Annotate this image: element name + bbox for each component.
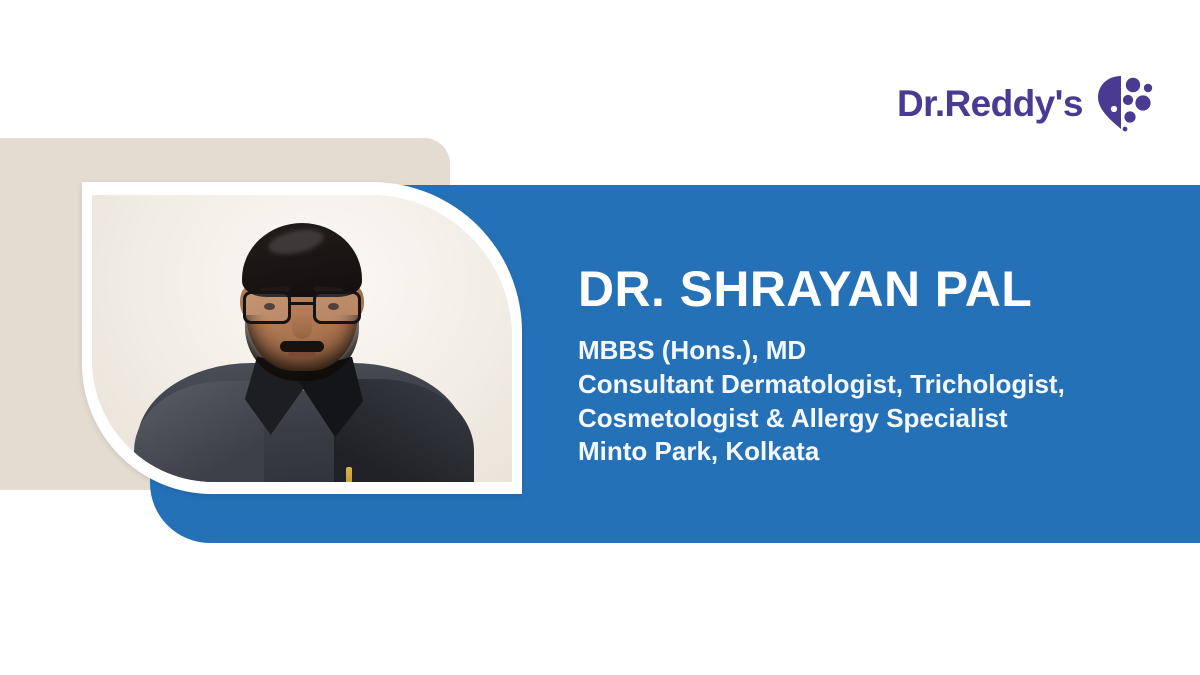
credential-line-1: MBBS (Hons.), MD [578,334,1178,368]
credential-line-2: Consultant Dermatologist, Trichologist, [578,368,1178,402]
portrait-moustache [280,341,324,352]
doctor-portrait-illustration [92,195,512,482]
portrait-glasses-lens-right [313,291,361,324]
doctor-info-block: DR. SHRAYAN PAL MBBS (Hons.), MD Consult… [578,262,1178,469]
doctor-credentials-list: MBBS (Hons.), MD Consultant Dermatologis… [578,334,1178,469]
portrait-nose [292,313,312,339]
dr-reddys-wordmark: Dr.Reddy's [897,85,1083,122]
doctor-photo [92,195,512,482]
heart-bubbles-logo-icon [1095,72,1155,134]
doctor-photo-card [82,182,522,494]
portrait-glasses-bridge [291,302,313,305]
credential-line-4: Minto Park, Kolkata [578,435,1178,469]
portrait-pocket-pen [346,467,352,482]
portrait-lip [288,352,316,357]
portrait-glasses-lens-left [243,291,291,324]
credential-line-3: Cosmetologist & Allergy Specialist [578,402,1178,436]
doctor-name: DR. SHRAYAN PAL [578,262,1178,316]
promo-card-canvas: DR. SHRAYAN PAL MBBS (Hons.), MD Consult… [0,0,1200,675]
dr-reddys-logo: Dr.Reddy's [897,72,1155,134]
